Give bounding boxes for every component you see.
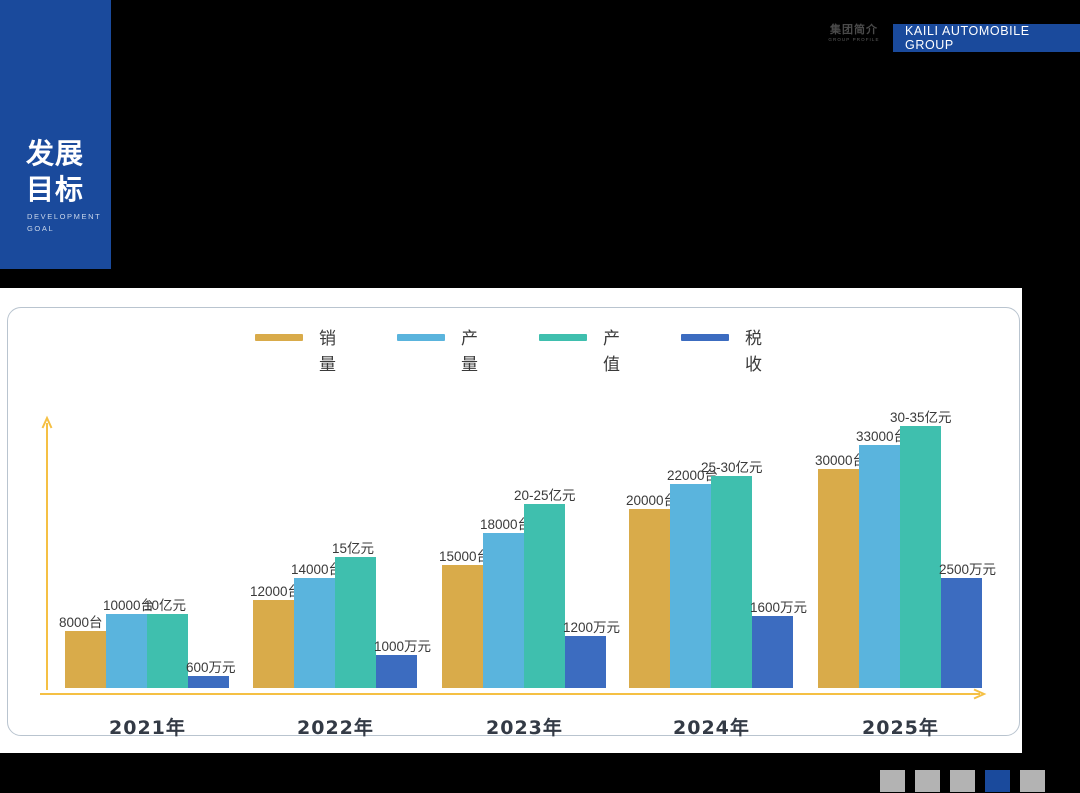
bar-税收-2022年[interactable] (376, 655, 417, 688)
header-section-label-en: GROUP PROFILE (818, 36, 890, 44)
bar-产值-2025年[interactable] (900, 426, 941, 688)
bar-销量-2022年[interactable] (253, 600, 294, 688)
bar-value-label: 2500万元 (939, 558, 996, 578)
bar-产量-2024年[interactable] (670, 484, 711, 688)
bar-产量-2022年[interactable] (294, 578, 335, 688)
x-axis-category-label: 2021年 (109, 713, 186, 740)
bar-value-label: 1200万元 (563, 616, 620, 636)
bar-产值-2021年[interactable] (147, 614, 188, 688)
bar-产值-2022年[interactable] (335, 557, 376, 688)
bar-value-label: 20-25亿元 (514, 484, 576, 504)
bar-value-label: 600万元 (186, 656, 236, 676)
bar-产量-2025年[interactable] (859, 445, 900, 688)
x-axis-category-label: 2022年 (297, 713, 374, 740)
x-axis-category-label: 2025年 (862, 713, 939, 740)
bar-产量-2021年[interactable] (106, 614, 147, 688)
pagination-dot-3[interactable] (950, 770, 975, 792)
bars-layer: 8000台12000台15000台20000台30000台2021年2022年2… (8, 308, 1021, 688)
pagination-dot-1[interactable] (880, 770, 905, 792)
bar-value-label: 1600万元 (750, 596, 807, 616)
bar-value-label: 1000万元 (374, 635, 431, 655)
chart-plot-area: 8000台12000台15000台20000台30000台2021年2022年2… (8, 308, 1021, 737)
bar-value-label: 30-35亿元 (890, 406, 952, 426)
pagination-dot-4[interactable] (985, 770, 1010, 792)
bar-产值-2024年[interactable] (711, 476, 752, 688)
bar-销量-2021年[interactable] (65, 631, 106, 688)
bar-销量-2023年[interactable] (442, 565, 483, 688)
x-axis-category-label: 2023年 (486, 713, 563, 740)
bar-value-label: 10亿元 (144, 594, 186, 614)
bar-产量-2023年[interactable] (483, 533, 524, 688)
bar-value-label: 25-30亿元 (701, 456, 763, 476)
bar-税收-2024年[interactable] (752, 616, 793, 688)
header-section-label: 集团简介 GROUP PROFILE (818, 23, 890, 44)
pagination-dots[interactable] (880, 770, 1045, 792)
section-title-block: 发展 目标 DEVELOPMENT GOAL (0, 0, 111, 269)
bar-销量-2024年[interactable] (629, 509, 670, 688)
page-title: 发展 目标 (26, 136, 84, 208)
chart-panel: 销量产量产值税收 8000台12000台15000台20000台30000台20… (0, 288, 1022, 753)
page-title-line1: 发展 (26, 136, 84, 172)
bar-税收-2025年[interactable] (941, 578, 982, 688)
bar-销量-2025年[interactable] (818, 469, 859, 688)
x-axis-arrow (40, 687, 988, 701)
pagination-dot-2[interactable] (915, 770, 940, 792)
chart-card: 销量产量产值税收 8000台12000台15000台20000台30000台20… (7, 307, 1020, 736)
bar-税收-2021年[interactable] (188, 676, 229, 688)
bar-value-label: 15亿元 (332, 537, 374, 557)
brand-banner: KAILI AUTOMOBILE GROUP (893, 24, 1080, 52)
header-section-label-cn: 集团简介 (818, 23, 890, 36)
bar-value-label: 8000台 (59, 611, 103, 631)
page-subtitle: DEVELOPMENT GOAL (27, 211, 107, 235)
bar-税收-2023年[interactable] (565, 636, 606, 688)
page-title-line2: 目标 (26, 172, 84, 208)
pagination-dot-5[interactable] (1020, 770, 1045, 792)
x-axis-category-label: 2024年 (673, 713, 750, 740)
slide-root: 发展 目标 DEVELOPMENT GOAL 集团简介 GROUP PROFIL… (0, 0, 1080, 793)
bar-产值-2023年[interactable] (524, 504, 565, 688)
